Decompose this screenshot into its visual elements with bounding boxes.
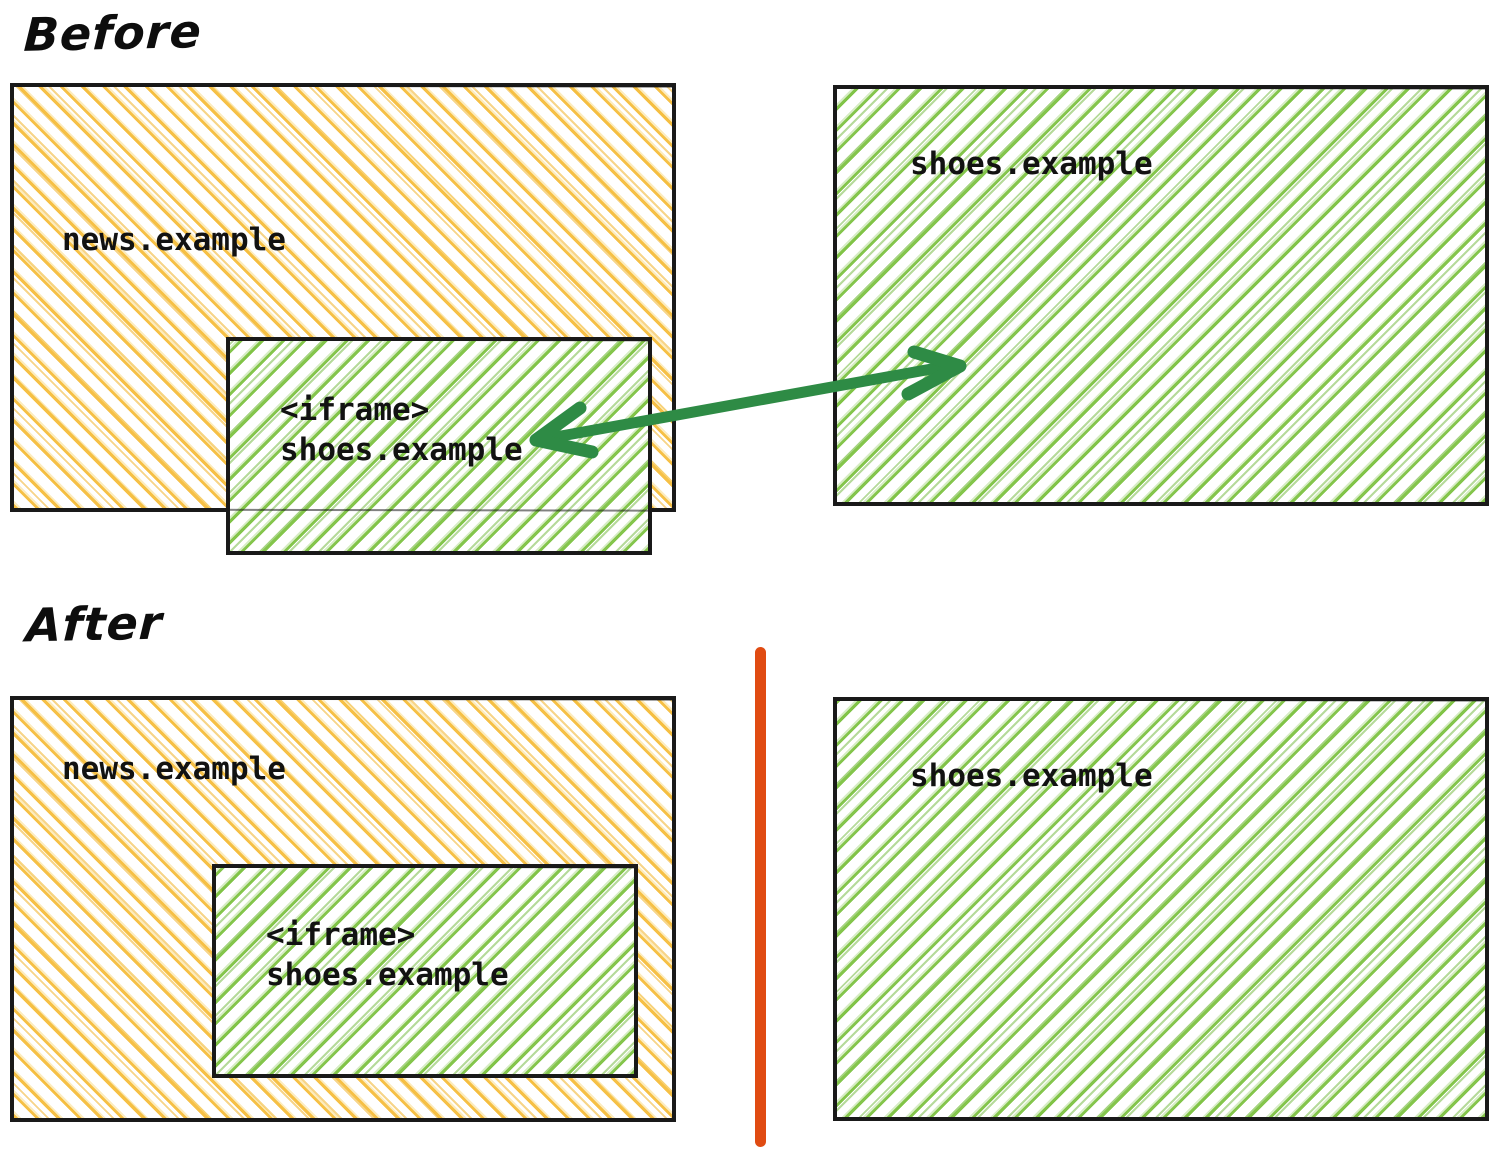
after-iframe-shoes-example-box: <iframe>shoes.example: [212, 864, 638, 1078]
state-partition-divider-bar: [755, 647, 766, 1147]
before-iframe-shoes-example-box: <iframe>shoes.example: [226, 337, 652, 555]
before-shoes-example-box: shoes.example: [833, 85, 1489, 506]
after-shoes-example-box: shoes.example: [833, 697, 1489, 1121]
before-news-example-label: news.example: [62, 221, 286, 261]
before-news-example-box: news.example <iframe>shoes.example: [10, 83, 676, 512]
after-news-example-label: news.example: [62, 750, 286, 790]
before-iframe-origin-text: shoes.example: [280, 432, 523, 468]
after-shoes-example-label: shoes.example: [910, 757, 1153, 797]
before-shoes-example-label: shoes.example: [910, 145, 1153, 185]
after-iframe-label: <iframe>shoes.example: [266, 916, 509, 995]
after-iframe-origin-text: shoes.example: [266, 957, 509, 993]
diagram-canvas: Before news.example <iframe>shoes.exampl…: [0, 0, 1506, 1154]
before-iframe-tag-text: <iframe>: [280, 392, 429, 428]
section-title-after: After: [25, 596, 164, 653]
before-iframe-label: <iframe>shoes.example: [280, 391, 523, 470]
after-iframe-tag-text: <iframe>: [266, 917, 415, 953]
section-title-before: Before: [23, 4, 204, 62]
